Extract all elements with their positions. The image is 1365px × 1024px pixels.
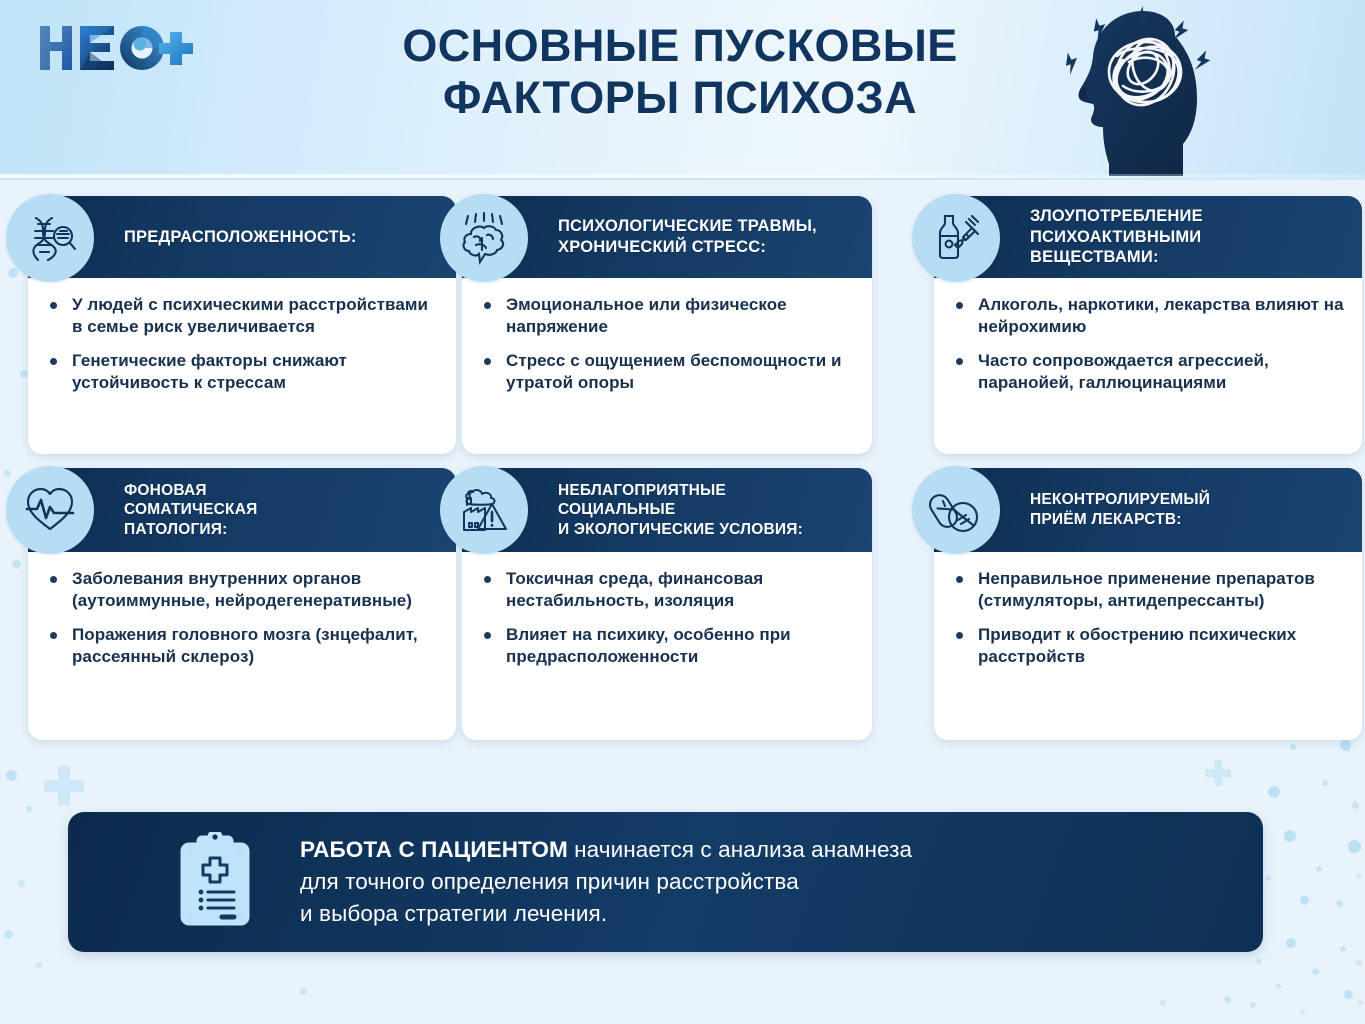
card-body: Эмоциональное или физическое напряжение … (462, 278, 872, 416)
card-body: Неправильное применение препаратов (стим… (934, 552, 1362, 690)
decorative-dot (1316, 866, 1322, 872)
decorative-dot (1290, 744, 1296, 750)
bullet-list: Неправильное применение препаратов (стим… (952, 568, 1346, 667)
card-body: У людей с психическими расстройствами в … (28, 278, 456, 416)
pills-icon (912, 466, 1000, 554)
footer-callout: РАБОТА С ПАЦИЕНТОМ начинается с анализа … (68, 812, 1263, 952)
card-substance-abuse[interactable]: ЗЛОУПОТРЕБЛЕНИЕ ПСИХОАКТИВНЫМИ ВЕЩЕСТВАМ… (934, 196, 1362, 454)
card-somatic-pathology[interactable]: ФОНОВАЯ СОМАТИЧЕСКАЯ ПАТОЛОГИЯ: Заболева… (28, 468, 456, 740)
decorative-dot (1340, 946, 1346, 952)
page-title: ОСНОВНЫЕ ПУСКОВЫЕ ФАКТОРЫ ПСИХОЗА (300, 20, 1060, 124)
decorative-dot (1356, 874, 1361, 879)
decorative-dot (1256, 958, 1262, 964)
decorative-dot (12, 560, 21, 569)
bullet-list: Заболевания внутренних органов (аутоимму… (46, 568, 440, 667)
decorative-dot (1286, 938, 1296, 948)
card-title: НЕКОНТРОЛИРУЕМЫЙ ПРИЁМ ЛЕКАРСТВ: (1030, 490, 1210, 529)
decorative-dot (1344, 990, 1353, 999)
factory-warning-icon (440, 466, 528, 554)
decorative-dot (4, 470, 11, 477)
decorative-dot (1284, 830, 1296, 842)
factor-card-grid: ПРЕДРАСПОЛОЖЕННОСТЬ: У людей с психическ… (28, 196, 1340, 740)
bullet-list: Алкоголь, наркотики, лекарства влияют на… (952, 294, 1346, 393)
decorative-dot (1300, 896, 1309, 905)
card-title: ПСИХОЛОГИЧЕСКИЕ ТРАВМЫ, ХРОНИЧЕСКИЙ СТРЕ… (558, 216, 817, 258)
heart-pulse-icon (6, 466, 94, 554)
decorative-dot (1276, 984, 1281, 989)
decorative-dot (36, 962, 42, 968)
footer-line-1-rest: начинается с анализа анамнеза (568, 837, 912, 862)
hero-band: ОСНОВНЫЕ ПУСКОВЫЕ ФАКТОРЫ ПСИХОЗА (0, 0, 1365, 180)
list-item: Токсичная среда, финансовая нестабильнос… (480, 568, 856, 611)
decorative-dot (1348, 840, 1361, 853)
list-item: Часто сопровождается агрессией, паранойе… (952, 350, 1346, 393)
card-header: НЕКОНТРОЛИРУЕМЫЙ ПРИЁМ ЛЕКАРСТВ: (934, 468, 1362, 552)
card-title: ЗЛОУПОТРЕБЛЕНИЕ ПСИХОАКТИВНЫМИ ВЕЩЕСТВАМ… (1030, 206, 1203, 268)
title-line-2: ФАКТОРЫ ПСИХОЗА (300, 72, 1060, 124)
card-predisposition[interactable]: ПРЕДРАСПОЛОЖЕННОСТЬ: У людей с психическ… (28, 196, 456, 454)
decorative-cross-icon (1205, 760, 1231, 786)
list-item: Приводит к обострению психических расстр… (952, 624, 1346, 667)
list-item: Стресс с ощущением беспомощности и утрат… (480, 350, 856, 393)
decorative-dot (1266, 876, 1271, 881)
neo-plus-logo-icon (28, 18, 198, 80)
list-item: Алкоголь, наркотики, лекарства влияют на… (952, 294, 1346, 337)
title-line-1: ОСНОВНЫЕ ПУСКОВЫЕ (402, 20, 957, 71)
decorative-dot (18, 880, 25, 887)
bullet-list: У людей с психическими расстройствами в … (46, 294, 440, 393)
decorative-dot (26, 806, 32, 812)
list-item: Генетические факторы снижают устойчивост… (46, 350, 440, 393)
card-header: ПСИХОЛОГИЧЕСКИЕ ТРАВМЫ, ХРОНИЧЕСКИЙ СТРЕ… (462, 196, 872, 278)
footer-lead: РАБОТА С ПАЦИЕНТОМ (300, 837, 568, 862)
list-item: Влияет на психику, особенно при предрасп… (480, 624, 856, 667)
list-item: Поражения головного мозга (знцефалит, ра… (46, 624, 440, 667)
decorative-dot (1358, 1000, 1363, 1005)
decorative-cross-icon (44, 766, 84, 806)
bottle-syringe-icon (912, 194, 1000, 282)
decorative-dot (1268, 786, 1280, 798)
decorative-dot (1160, 1000, 1166, 1006)
decorative-dot (4, 930, 13, 939)
bullet-list: Эмоциональное или физическое напряжение … (480, 294, 856, 393)
bullet-list: Токсичная среда, финансовая нестабильнос… (480, 568, 856, 667)
stressed-brain-icon (440, 194, 528, 282)
card-header: ПРЕДРАСПОЛОЖЕННОСТЬ: (28, 196, 456, 278)
card-body: Заболевания внутренних органов (аутоимму… (28, 552, 456, 690)
card-title: НЕБЛАГОПРИЯТНЫЕ СОЦИАЛЬНЫЕ И ЭКОЛОГИЧЕСК… (558, 481, 803, 540)
clipboard-medical-icon (176, 832, 254, 933)
list-item: У людей с психическими расстройствами в … (46, 294, 440, 337)
card-header: ФОНОВАЯ СОМАТИЧЕСКАЯ ПАТОЛОГИЯ: (28, 468, 456, 552)
card-body: Токсичная среда, финансовая нестабильнос… (462, 552, 872, 690)
infographic-root: ОСНОВНЫЕ ПУСКОВЫЕ ФАКТОРЫ ПСИХОЗА (0, 0, 1365, 1024)
decorative-dot (1250, 1002, 1256, 1008)
footer-line-2: для точного определения причин расстройс… (300, 866, 912, 898)
decorative-dot (8, 268, 18, 278)
card-header: ЗЛОУПОТРЕБЛЕНИЕ ПСИХОАКТИВНЫМИ ВЕЩЕСТВАМ… (934, 196, 1362, 278)
decorative-dot (1224, 996, 1231, 1003)
card-body: Алкоголь, наркотики, лекарства влияют на… (934, 278, 1362, 416)
card-social-ecological[interactable]: НЕБЛАГОПРИЯТНЫЕ СОЦИАЛЬНЫЕ И ЭКОЛОГИЧЕСК… (462, 468, 872, 740)
brand-logo (28, 18, 198, 80)
footer-line-3: и выбора стратегии лечения. (300, 898, 912, 930)
card-uncontrolled-medication[interactable]: НЕКОНТРОЛИРУЕМЫЙ ПРИЁМ ЛЕКАРСТВ: Неправи… (934, 468, 1362, 740)
decorative-dot (6, 770, 17, 781)
card-psychological-trauma[interactable]: ПСИХОЛОГИЧЕСКИЕ ТРАВМЫ, ХРОНИЧЕСКИЙ СТРЕ… (462, 196, 872, 454)
decorative-dot (20, 370, 28, 378)
card-title: ПРЕДРАСПОЛОЖЕННОСТЬ: (124, 227, 357, 248)
decorative-dot (1336, 900, 1343, 907)
head-with-tangled-thoughts-icon (1025, 0, 1295, 180)
decorative-dot (300, 988, 307, 995)
decorative-dot (1300, 1010, 1305, 1015)
card-title: ФОНОВАЯ СОМАТИЧЕСКАЯ ПАТОЛОГИЯ: (124, 481, 257, 540)
card-header: НЕБЛАГОПРИЯТНЫЕ СОЦИАЛЬНЫЕ И ЭКОЛОГИЧЕСК… (462, 468, 872, 552)
decorative-dot (1340, 740, 1351, 751)
dna-magnifier-icon (6, 194, 94, 282)
decorative-dot (1356, 960, 1362, 966)
decorative-dot (1352, 802, 1359, 809)
footer-text: РАБОТА С ПАЦИЕНТОМ начинается с анализа … (300, 834, 912, 930)
hero-illustration (1025, 0, 1295, 180)
list-item: Заболевания внутренних органов (аутоимму… (46, 568, 440, 611)
list-item: Эмоциональное или физическое напряжение (480, 294, 856, 337)
decorative-dot (1322, 780, 1328, 786)
list-item: Неправильное применение препаратов (стим… (952, 568, 1346, 611)
decorative-dot (1312, 968, 1319, 975)
